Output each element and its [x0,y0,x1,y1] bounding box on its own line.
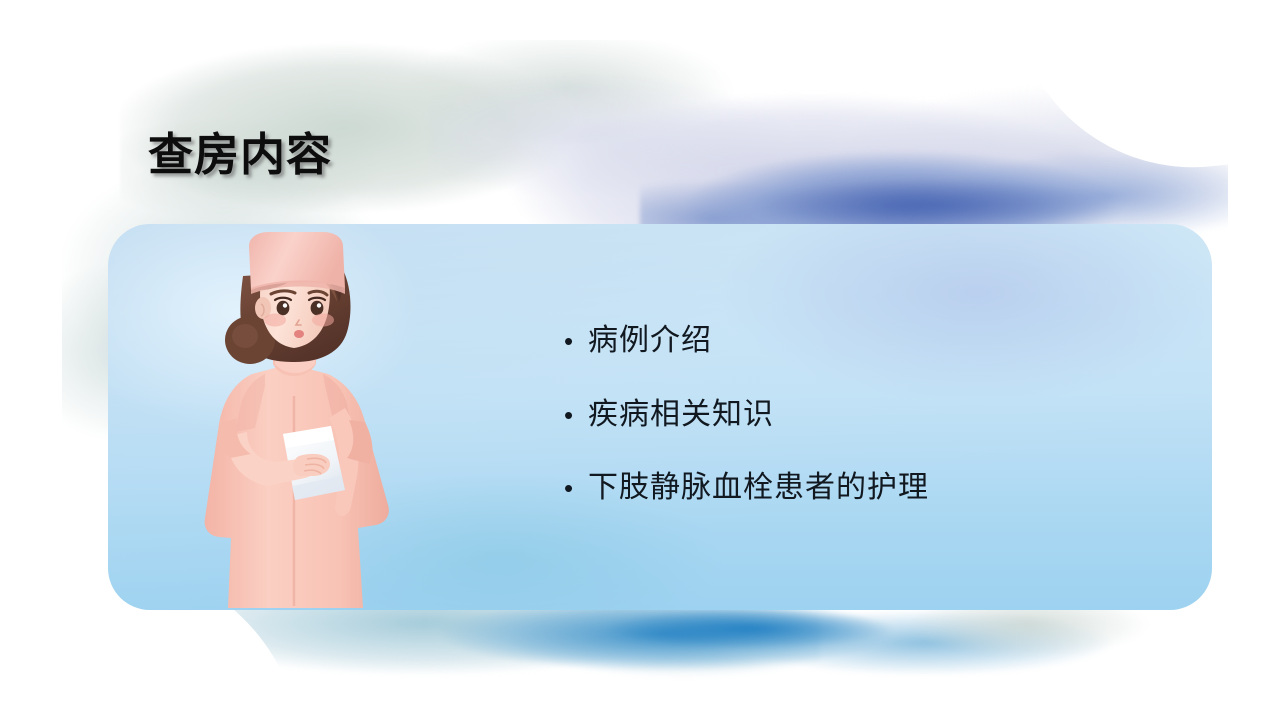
list-item[interactable]: • 疾病相关知识 [564,396,1184,434]
nurse-eye-highlight-right [317,303,321,307]
paper-edge-bottom [0,690,1280,720]
bullet-list: • 病例介绍 • 疾病相关知识 • 下肢静脉血栓患者的护理 [564,322,1184,543]
nurse-hair-bun-highlight [232,324,258,348]
paper-edge-top-right [1009,0,1280,185]
list-item[interactable]: • 病例介绍 [564,322,1184,360]
bullet-dot-icon: • [564,475,588,501]
paper-edge-right [1228,0,1280,720]
page-title: 查房内容 [148,118,332,183]
list-item-label: 病例介绍 [588,322,712,360]
nurse-eye-highlight-left [283,303,287,307]
nurse-eye-right [311,301,324,315]
nurse-eye-left [277,301,290,315]
list-item[interactable]: • 下肢静脉血栓患者的护理 [564,469,1184,507]
bullet-dot-icon: • [564,402,588,428]
list-item-label: 下肢静脉血栓患者的护理 [588,469,929,507]
nurse-illustration [195,228,410,610]
slide-canvas: 查房内容 [0,0,1280,720]
paper-edge-left [0,0,62,720]
list-item-label: 疾病相关知识 [588,396,774,434]
nurse-blush-right [312,314,334,327]
nurse-mouth [294,330,304,338]
bullet-dot-icon: • [564,328,588,354]
paper-edge-top [0,0,1280,40]
nurse-blush-left [264,314,286,327]
